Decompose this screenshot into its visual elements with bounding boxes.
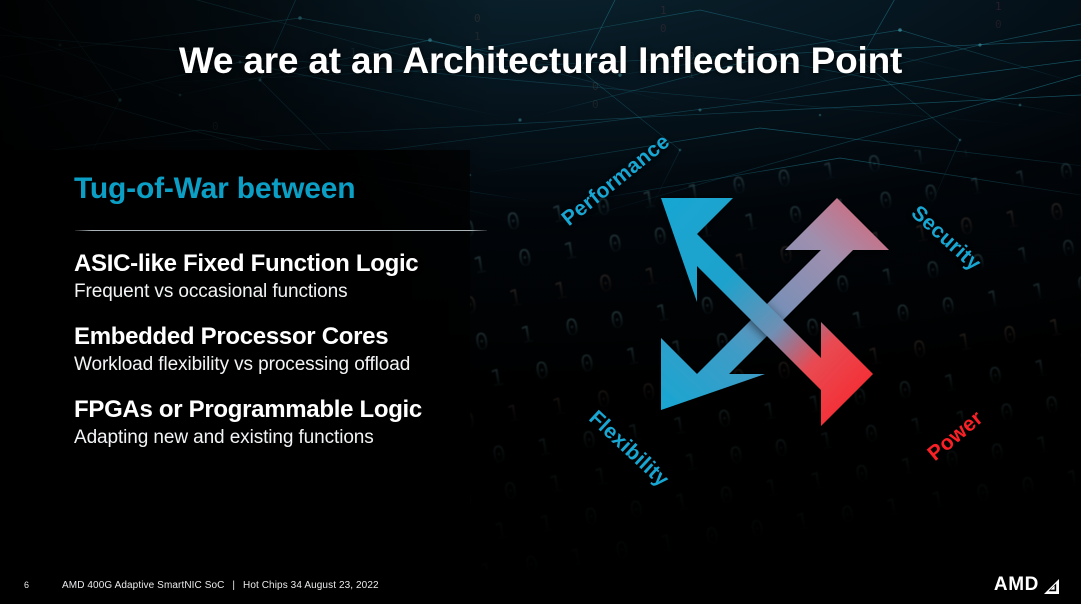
- slide: 0 1 1 0 0 1 0 0 1 0 1 0: [0, 0, 1081, 604]
- amd-logo-text: AMD: [994, 575, 1039, 594]
- section-divider: [75, 230, 487, 231]
- amd-arrow-icon: [1042, 577, 1059, 594]
- page-title: We are at an Architectural Inflection Po…: [0, 40, 1081, 82]
- section-subheading: Tug-of-War between: [74, 172, 355, 206]
- svg-text:0: 0: [660, 22, 667, 35]
- bullet-title: Embedded Processor Cores: [74, 323, 514, 351]
- svg-text:1: 1: [660, 4, 667, 17]
- list-item: ASIC-like Fixed Function Logic Frequent …: [74, 250, 514, 305]
- bullet-title: FPGAs or Programmable Logic: [74, 396, 514, 424]
- list-item: Embedded Processor Cores Workload flexib…: [74, 323, 514, 378]
- footer-separator: |: [227, 580, 240, 591]
- bullet-subtitle: Workload flexibility vs processing offlo…: [74, 353, 514, 378]
- svg-text:0: 0: [474, 12, 481, 25]
- svg-text:0: 0: [995, 18, 1002, 31]
- svg-text:1: 1: [995, 0, 1002, 13]
- footer-text: AMD 400G Adaptive SmartNIC SoC | Hot Chi…: [62, 580, 379, 591]
- bullet-list: ASIC-like Fixed Function Logic Frequent …: [74, 250, 514, 469]
- svg-text:0: 0: [592, 98, 599, 111]
- page-number: 6: [24, 580, 29, 590]
- amd-logo: AMD: [994, 575, 1059, 594]
- bullet-title: ASIC-like Fixed Function Logic: [74, 250, 514, 278]
- footer-event: Hot Chips 34 August 23, 2022: [243, 580, 379, 591]
- footer-deck-title: AMD 400G Adaptive SmartNIC SoC: [62, 580, 225, 591]
- bullet-subtitle: Frequent vs occasional functions: [74, 280, 514, 305]
- bullet-subtitle: Adapting new and existing functions: [74, 426, 514, 451]
- list-item: FPGAs or Programmable Logic Adapting new…: [74, 396, 514, 451]
- svg-text:0: 0: [212, 120, 219, 133]
